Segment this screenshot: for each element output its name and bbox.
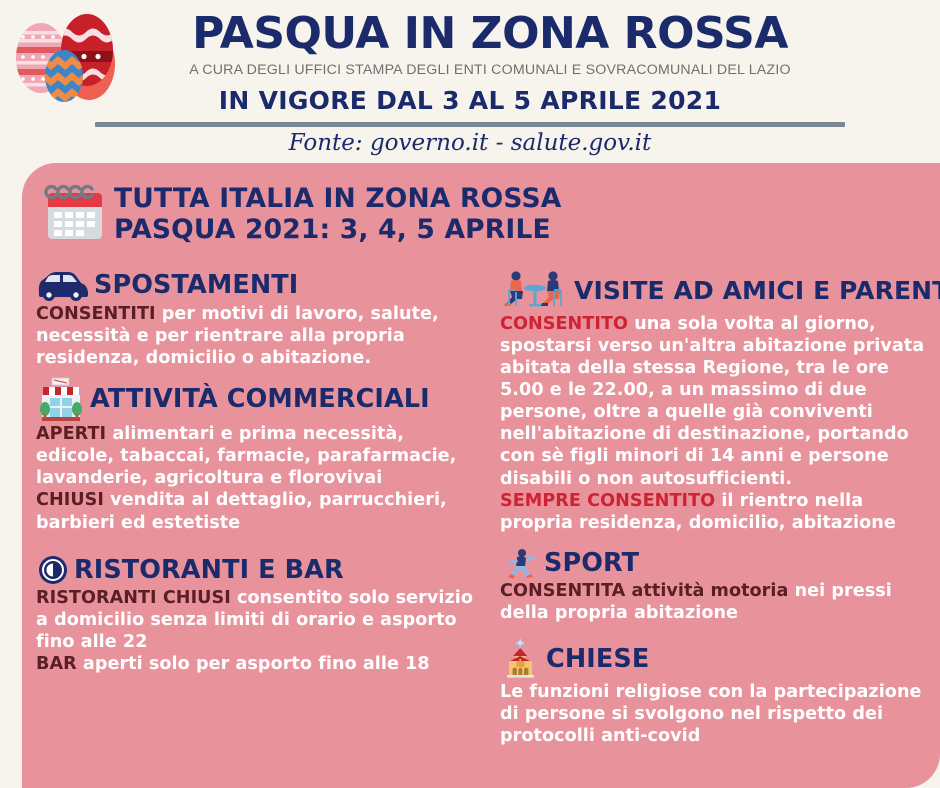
validity-text: IN VIGORE DAL 3 AL 5 APRILE 2021 — [0, 86, 940, 115]
section-body: CONSENTITI per motivi di lavoro, salute,… — [36, 303, 484, 369]
church-icon — [500, 638, 542, 680]
banner: TUTTA ITALIA IN ZONA ROSSA PASQUA 2021: … — [42, 179, 561, 247]
keyword: BAR — [36, 654, 77, 674]
section-header: SPOSTAMENTI — [36, 268, 484, 302]
section-body: Le funzioni religiose con la partecipazi… — [500, 681, 932, 747]
section-body: CONSENTITO una sola volta al giorno, spo… — [500, 313, 932, 534]
body-text: Le funzioni religiose con la partecipazi… — [500, 682, 922, 746]
source-text: Fonte: governo.it - salute.gov.it — [0, 130, 940, 156]
banner-line-1: TUTTA ITALIA IN ZONA ROSSA — [114, 183, 561, 214]
section-body: RISTORANTI CHIUSI consentito solo serviz… — [36, 587, 484, 675]
section-header: ATTIVITÀ COMMERCIALI — [36, 376, 484, 422]
keyword: CONSENTITA attività motoria — [500, 581, 788, 601]
keyword: APERTI — [36, 424, 106, 444]
section-title: RISTORANTI E BAR — [74, 555, 344, 585]
columns: SPOSTAMENTI CONSENTITI per motivi di lav… — [22, 268, 940, 751]
section-title: VISITE AD AMICI E PARENTI — [574, 276, 940, 305]
keyword: CHIUSI — [36, 490, 104, 510]
section-attivita-commerciali: ATTIVITÀ COMMERCIALI APERTI alimentari e… — [36, 376, 484, 533]
section-visite-ad-amici-e-parenti: VISITE AD AMICI E PARENTI CONSENTITO una… — [500, 268, 932, 534]
right-column: VISITE AD AMICI E PARENTI CONSENTITO una… — [492, 268, 940, 751]
section-ristoranti-e-bar: RISTORANTI E BAR RISTORANTI CHIUSI conse… — [36, 554, 484, 675]
section-title: ATTIVITÀ COMMERCIALI — [90, 384, 430, 414]
header: PASQUA IN ZONA ROSSA A CURA DEGLI UFFICI… — [0, 0, 940, 163]
section-sport: SPORT CONSENTITA attività motoria nei pr… — [500, 547, 932, 624]
section-header: SPORT — [500, 547, 932, 579]
page-title: PASQUA IN ZONA ROSSA — [0, 8, 940, 59]
keyword: RISTORANTI CHIUSI — [36, 588, 231, 608]
two-people-at-table-icon — [500, 268, 570, 312]
section-title: SPORT — [544, 548, 639, 578]
section-title: SPOSTAMENTI — [94, 270, 298, 300]
calendar-icon — [42, 181, 108, 247]
divider — [95, 122, 845, 127]
section-header: RISTORANTI E BAR — [36, 554, 484, 586]
section-header: VISITE AD AMICI E PARENTI — [500, 268, 932, 312]
banner-line-2: PASQUA 2021: 3, 4, 5 APRILE — [114, 214, 561, 245]
plate-icon — [36, 554, 70, 586]
section-body: APERTI alimentari e prima necessità, edi… — [36, 423, 484, 533]
running-person-icon — [500, 547, 540, 579]
section-body: CONSENTITA attività motoria nei pressi d… — [500, 580, 932, 624]
body-text: una sola volta al giorno, spostarsi vers… — [500, 314, 924, 489]
section-chiese: CHIESE Le funzioni religiose con la part… — [500, 638, 932, 747]
body-text: aperti solo per asporto fino alle 18 — [77, 654, 430, 674]
section-spostamenti: SPOSTAMENTI CONSENTITI per motivi di lav… — [36, 268, 484, 369]
page-subtitle: A CURA DEGLI UFFICI STAMPA DEGLI ENTI CO… — [0, 62, 940, 78]
section-header: CHIESE — [500, 638, 932, 680]
keyword: SEMPRE CONSENTITO — [500, 491, 715, 511]
content-panel: TUTTA ITALIA IN ZONA ROSSA PASQUA 2021: … — [22, 163, 940, 788]
section-title: CHIESE — [546, 644, 649, 674]
banner-text: TUTTA ITALIA IN ZONA ROSSA PASQUA 2021: … — [114, 179, 561, 246]
car-icon — [34, 268, 90, 302]
keyword: CONSENTITO — [500, 314, 628, 334]
shop-icon — [36, 376, 86, 422]
left-column: SPOSTAMENTI CONSENTITI per motivi di lav… — [22, 268, 492, 751]
keyword: CONSENTITI — [36, 304, 156, 324]
